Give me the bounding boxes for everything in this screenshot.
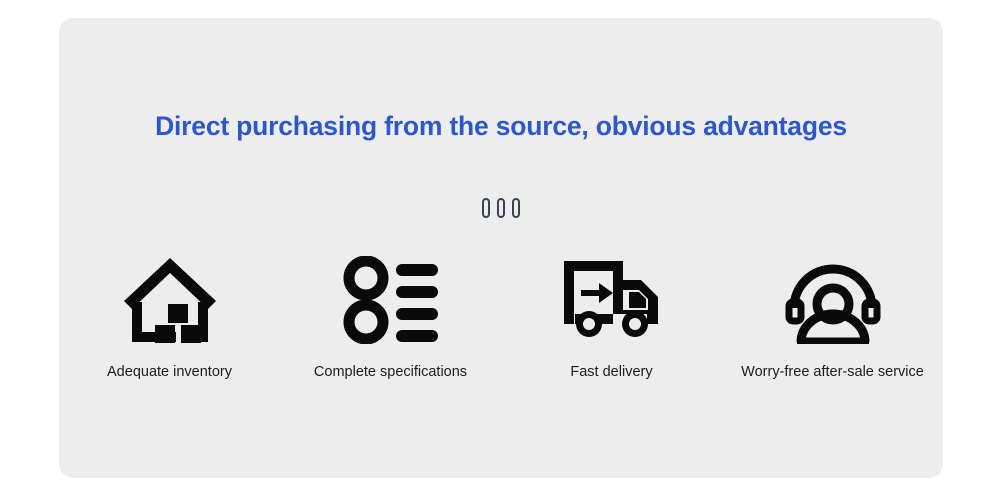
ornament-pill-3 [512, 198, 520, 218]
customer-service-headset-icon [784, 254, 882, 346]
ornament-pill-2 [497, 198, 505, 218]
warehouse-house-boxes-icon [120, 254, 220, 346]
feature-item-specifications: Complete specifications [280, 254, 501, 380]
ornament-pill-1 [482, 198, 490, 218]
page-title: Direct purchasing from the source, obvio… [59, 111, 943, 142]
delivery-truck-icon [561, 254, 663, 346]
feature-label-delivery: Fast delivery [570, 364, 652, 380]
feature-label-specifications: Complete specifications [314, 364, 467, 380]
feature-label-service: Worry-free after-sale service [741, 364, 924, 380]
feature-row: Adequate inventory Complete specificatio… [59, 254, 943, 380]
divider-ornament [59, 196, 943, 220]
banner-stage: Direct purchasing from the source, obvio… [0, 0, 1000, 499]
feature-label-inventory: Adequate inventory [107, 364, 232, 380]
feature-item-inventory: Adequate inventory [59, 254, 280, 380]
specification-list-icon [342, 254, 440, 346]
feature-item-delivery: Fast delivery [501, 254, 722, 380]
feature-item-service: Worry-free after-sale service [722, 254, 943, 380]
promo-card: Direct purchasing from the source, obvio… [59, 18, 943, 478]
